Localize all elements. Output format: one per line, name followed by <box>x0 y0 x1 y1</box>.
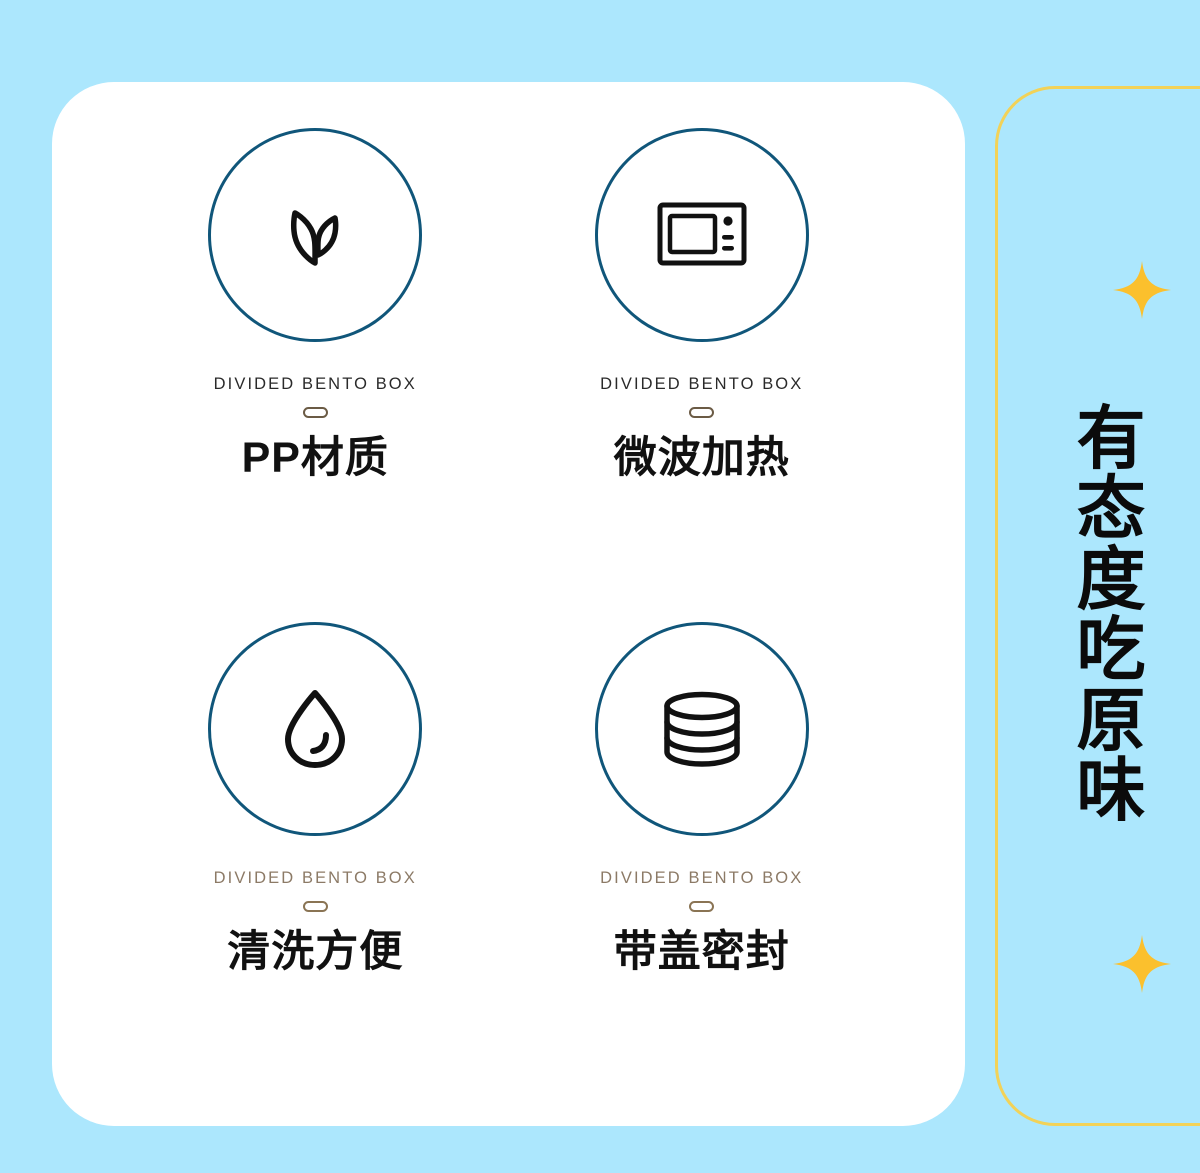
slogan-char: 有 <box>1077 404 1146 474</box>
feature-sealed-lid[interactable]: DIVIDED BENTO BOX 带盖密封 <box>509 600 896 1094</box>
feature-eyebrow: DIVIDED BENTO BOX <box>214 375 417 394</box>
feature-eyebrow: DIVIDED BENTO BOX <box>600 869 803 888</box>
feature-eyebrow: DIVIDED BENTO BOX <box>600 375 803 394</box>
feature-pp-material[interactable]: DIVIDED BENTO BOX PP材质 <box>122 106 509 600</box>
feature-microwave-safe[interactable]: DIVIDED BENTO BOX 微波加热 <box>509 106 896 600</box>
feature-eyebrow: DIVIDED BENTO BOX <box>214 869 417 888</box>
feature-headline: 带盖密封 <box>614 929 790 976</box>
feature-easy-clean[interactable]: DIVIDED BENTO BOX 清洗方便 <box>122 600 509 1094</box>
container-icon <box>661 691 743 767</box>
leaf-icon-circle <box>208 128 422 342</box>
divider-pill <box>303 901 328 912</box>
divider-pill <box>689 901 714 912</box>
feature-headline: PP材质 <box>242 435 389 482</box>
leaf-icon <box>271 191 359 279</box>
microwave-icon <box>656 199 748 271</box>
slogan-char: 吃 <box>1077 615 1146 685</box>
slogan-char: 度 <box>1077 545 1146 615</box>
microwave-icon-circle <box>595 128 809 342</box>
sparkle-icon <box>1111 259 1173 321</box>
divider-pill <box>689 407 714 418</box>
water-drop-icon <box>279 687 351 771</box>
feature-headline: 清洗方便 <box>227 929 403 976</box>
slogan-char: 态 <box>1077 474 1146 544</box>
slogan-char: 味 <box>1077 756 1146 826</box>
page-root: DIVIDED BENTO BOX PP材质 <box>0 0 1200 1173</box>
slogan-char: 原 <box>1077 686 1146 756</box>
vertical-slogan: 有 态 度 吃 原 味 <box>1063 404 1159 826</box>
feature-headline: 微波加热 <box>614 435 790 482</box>
container-icon-circle <box>595 622 809 836</box>
water-drop-icon-circle <box>208 622 422 836</box>
feature-card: DIVIDED BENTO BOX PP材质 <box>52 82 965 1126</box>
sparkle-icon <box>1111 933 1173 995</box>
feature-grid: DIVIDED BENTO BOX PP材质 <box>52 82 965 1126</box>
divider-pill <box>303 407 328 418</box>
